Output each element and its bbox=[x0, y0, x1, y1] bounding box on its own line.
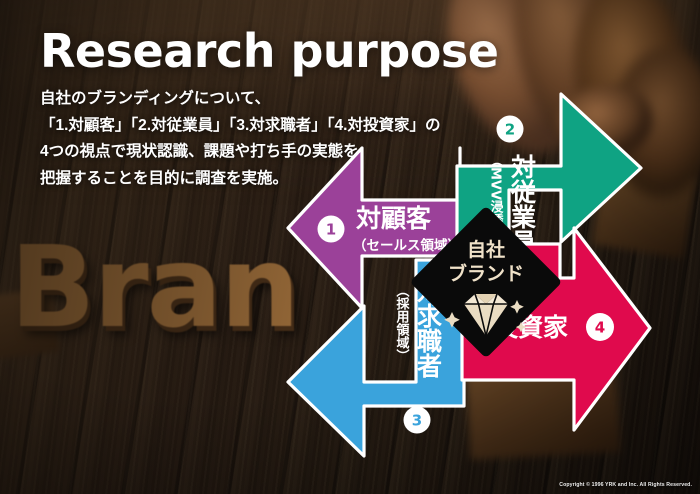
badge-number-4: 4 bbox=[595, 319, 605, 337]
badge-number-1: 1 bbox=[326, 221, 336, 239]
diagram-label-1: 対顧客 bbox=[356, 204, 431, 233]
center-label-line1: 自社 bbox=[467, 238, 505, 261]
badge-number-3: 3 bbox=[412, 412, 422, 430]
copyright-text: Copyright © 1996 YRK and Inc. All Rights… bbox=[559, 482, 692, 488]
center-label-line2: ブランド bbox=[448, 262, 524, 285]
page-title: Research purpose bbox=[40, 24, 498, 78]
diagram-sublabel-3: （採用領域） bbox=[394, 284, 411, 362]
slide-root: Bran Research purpose 自社のブランディングについて、 「1… bbox=[0, 0, 700, 494]
badge-number-2: 2 bbox=[505, 121, 515, 139]
brand-cycle-diagram: 1 対顧客 （セールス領域） 2 対従業員 （MVV浸透） 3 対求職者 （採用… bbox=[282, 88, 692, 460]
